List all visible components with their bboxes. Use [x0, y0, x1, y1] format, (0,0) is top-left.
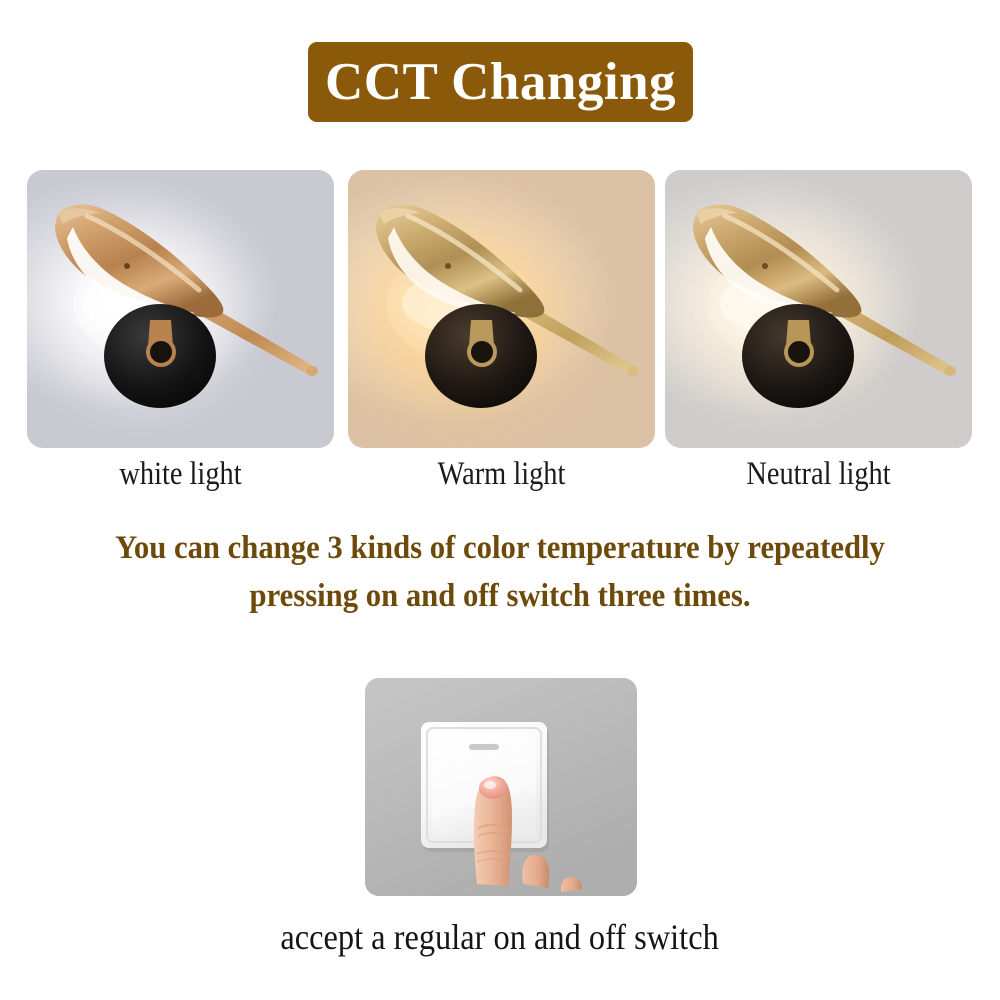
instruction-line-2: pressing on and off switch three times. [54, 572, 947, 620]
page-title: CCT Changing [325, 56, 676, 109]
photo-caption-row: white light Warm light Neutral light [0, 452, 1000, 496]
caption-white-light: white light [48, 452, 312, 496]
bird-lamp-warm [348, 170, 655, 448]
instruction-line-1: You can change 3 kinds of color temperat… [54, 524, 947, 572]
wall-switch-photo [365, 678, 637, 896]
caption-neutral-light: Neutral light [686, 452, 950, 496]
title-banner: CCT Changing [308, 42, 693, 122]
product-photo-neutral-light [665, 170, 972, 448]
switch-caption-text: accept a regular on and off switch [281, 912, 719, 962]
product-photo-white-light [27, 170, 334, 448]
product-photo-row [0, 170, 1000, 448]
bird-lamp-white [27, 170, 334, 448]
switch-caption: accept a regular on and off switch [0, 912, 1000, 962]
product-photo-warm-light [348, 170, 655, 448]
infographic-page: CCT Changing [0, 0, 1000, 1000]
instruction-text: You can change 3 kinds of color temperat… [20, 524, 980, 620]
bird-lamp-neutral [665, 170, 972, 448]
caption-warm-light: Warm light [369, 452, 633, 496]
